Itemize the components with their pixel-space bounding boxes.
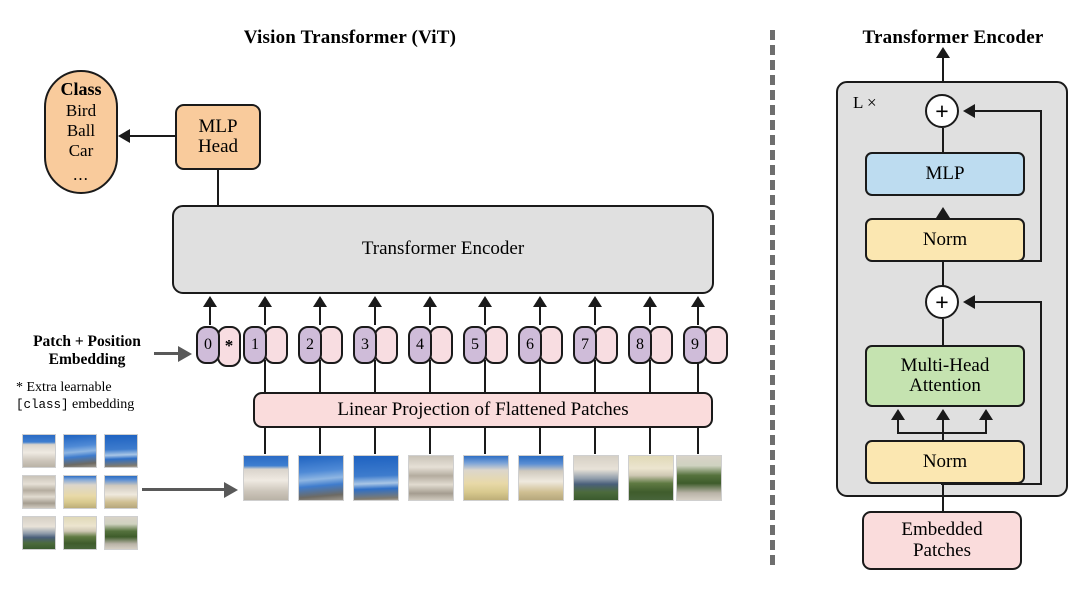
token-embedding-9 [704,326,728,364]
token-number-3: 3 [353,326,377,364]
proj-line-3 [374,360,376,393]
patch-sequence-item-9 [676,455,722,501]
patch-line-1 [264,428,266,454]
add-mid-to-mha-line [942,319,944,346]
token-arrow-0 [203,296,217,307]
extra-learnable-note: * Extra learnable [class] embedding [16,379,176,413]
mlp-head-label-line2: Head [198,137,238,157]
token-class-marker: * [217,326,241,367]
normtop-down-line [942,261,944,286]
token-pair-5: 5 [463,326,508,364]
embedded-patches-line2: Patches [913,541,971,561]
token-number-6: 6 [518,326,542,364]
class-ellipsis: ... [73,165,89,185]
token-pair-2: 2 [298,326,343,364]
patch-line-9 [697,428,699,454]
skip-top-horizontal-in [975,110,1042,112]
class-heading: Class [60,79,101,100]
token-arrow-3 [368,296,382,307]
token-embedding-2 [319,326,343,364]
patch-line-4 [429,428,431,454]
proj-line-8 [649,360,651,393]
proj-line-1 [264,360,266,393]
extra-learnable-line1: * Extra learnable [16,380,112,395]
proj-line-9 [697,360,699,393]
repeat-count-label: L × [853,93,877,113]
token-pair-9: 9 [683,326,728,364]
class-item-2: Car [69,141,94,161]
qkv-left-stem [897,420,899,434]
residual-add-mid: + [925,285,959,319]
proj-line-4 [429,360,431,393]
token-line-3 [374,307,376,325]
source-to-sequence-line [142,488,226,491]
token-line-4 [429,307,431,325]
mlp-block-label: MLP [925,164,964,184]
token-arrow-7 [588,296,602,307]
mha-label-line2: Attention [909,376,981,396]
token-embedding-6 [539,326,563,364]
source-patch-r0c2 [104,434,138,468]
token-arrow-2 [313,296,327,307]
qkv-center-arrowhead [936,409,950,420]
token-arrow-4 [423,296,437,307]
proj-line-7 [594,360,596,393]
patch-sequence-item-6 [518,455,564,501]
mlp-head-to-class-arrowhead [118,129,130,143]
source-patch-r0c0 [22,434,56,468]
plus-symbol-top: + [935,100,948,123]
source-patch-r0c1 [63,434,97,468]
mlp-head-to-class-line [130,135,176,137]
token-arrow-9 [691,296,705,307]
skip-mid-arrowhead [963,295,975,309]
qkv-right-arrowhead [979,409,993,420]
source-patch-r2c0 [22,516,56,550]
patch-sequence-item-7 [573,455,619,501]
patch-position-embedding-label: Patch + Position Embedding [12,333,162,368]
panel-divider [770,30,775,565]
token-number-1: 1 [243,326,267,364]
token-number-7: 7 [573,326,597,364]
patch-sequence-item-5 [463,455,509,501]
token-embedding-8 [649,326,673,364]
transformer-encoder-box: Transformer Encoder [172,205,714,294]
patch-sequence-item-2 [298,455,344,501]
token-pair-4: 4 [408,326,453,364]
embedded-patches-block: Embedded Patches [862,511,1022,570]
plus-symbol-mid: + [935,291,948,314]
patch-line-2 [319,428,321,454]
token-embedding-4 [429,326,453,364]
right-panel-title: Transformer Encoder [828,27,1078,49]
mha-label-line1: Multi-Head [901,356,990,376]
norm-bottom-block: Norm [865,440,1025,484]
source-patch-r2c1 [63,516,97,550]
class-item-0: Bird [66,101,96,121]
token-line-6 [539,307,541,325]
source-image-grid [22,434,142,550]
proj-line-5 [484,360,486,393]
token-line-5 [484,307,486,325]
token-embedding-5 [484,326,508,364]
patch-position-line1: Patch + Position [33,333,141,350]
linear-projection-box: Linear Projection of Flattened Patches [253,392,713,428]
token-line-9 [697,307,699,325]
proj-line-2 [319,360,321,393]
source-patch-r1c1 [63,475,97,509]
mlp-head-box: MLP Head [175,104,261,170]
linear-projection-label: Linear Projection of Flattened Patches [337,400,628,420]
token-embedding-1 [264,326,288,364]
patch-sequence-item-8 [628,455,674,501]
token-line-7 [594,307,596,325]
token-line-0 [209,307,211,325]
token-pair-6: 6 [518,326,563,364]
skip-top-arrowhead [963,104,975,118]
embedded-to-norm-line [942,483,944,512]
token-arrow-1 [258,296,272,307]
proj-line-6 [539,360,541,393]
token-number-9: 9 [683,326,707,364]
source-patch-r1c0 [22,475,56,509]
skip-top-vertical [1040,110,1042,262]
skip-mid-horizontal-in [975,301,1042,303]
token-pair-1: 1 [243,326,288,364]
embedded-patches-line1: Embedded [901,520,982,540]
token-number-5: 5 [463,326,487,364]
left-panel-title: Vision Transformer (ViT) [150,27,550,49]
source-patch-r1c2 [104,475,138,509]
patch-sequence-item-3 [353,455,399,501]
source-to-sequence-arrowhead [224,482,238,498]
class-token-code: [class] [16,398,69,412]
multi-head-attention-block: Multi-Head Attention [865,345,1025,407]
token-embedding-7 [594,326,618,364]
qkv-right-stem [985,420,987,434]
source-patch-r2c2 [104,516,138,550]
token-number-4: 4 [408,326,432,364]
token-pair-3: 3 [353,326,398,364]
patch-position-arrowhead [178,346,192,362]
token-arrow-5 [478,296,492,307]
mlp-head-to-encoder-line [217,169,219,207]
patch-sequence-item-1 [243,455,289,501]
qkv-left-arrowhead [891,409,905,420]
mlp-head-label-line1: MLP [198,117,237,137]
token-pair-8: 8 [628,326,673,364]
normtop-to-mlp-arrowhead [936,207,950,218]
vit-architecture-figure: Vision Transformer (ViT) Transformer Enc… [0,0,1080,593]
token-number-2: 2 [298,326,322,364]
token-number-8: 8 [628,326,652,364]
residual-add-top: + [925,94,959,128]
token-embedding-3 [374,326,398,364]
patch-sequence-item-4 [408,455,454,501]
norm-top-block: Norm [865,218,1025,262]
patch-position-arrow-line [154,352,180,355]
token-pair-7: 7 [573,326,618,364]
patch-line-6 [539,428,541,454]
patch-line-8 [649,428,651,454]
norm-bottom-label: Norm [923,452,967,472]
encoder-output-arrowhead [936,47,950,58]
patch-line-5 [484,428,486,454]
add-top-to-mlp-line [942,128,944,153]
class-item-1: Ball [67,121,95,141]
patch-line-7 [594,428,596,454]
token-arrow-8 [643,296,657,307]
token-line-1 [264,307,266,325]
token-arrow-6 [533,296,547,307]
token-number-0: 0 [196,326,220,364]
token-line-8 [649,307,651,325]
patch-position-line2: Embedding [49,351,126,368]
mlp-block: MLP [865,152,1025,196]
token-line-2 [319,307,321,325]
class-output-box: Class Bird Ball Car ... [44,70,118,194]
patch-line-3 [374,428,376,454]
extra-learnable-line2-rest: embedding [69,397,135,412]
transformer-encoder-label: Transformer Encoder [362,239,524,259]
skip-mid-vertical [1040,301,1042,485]
token-pair-0: 0 * [196,326,241,367]
norm-top-label: Norm [923,230,967,250]
